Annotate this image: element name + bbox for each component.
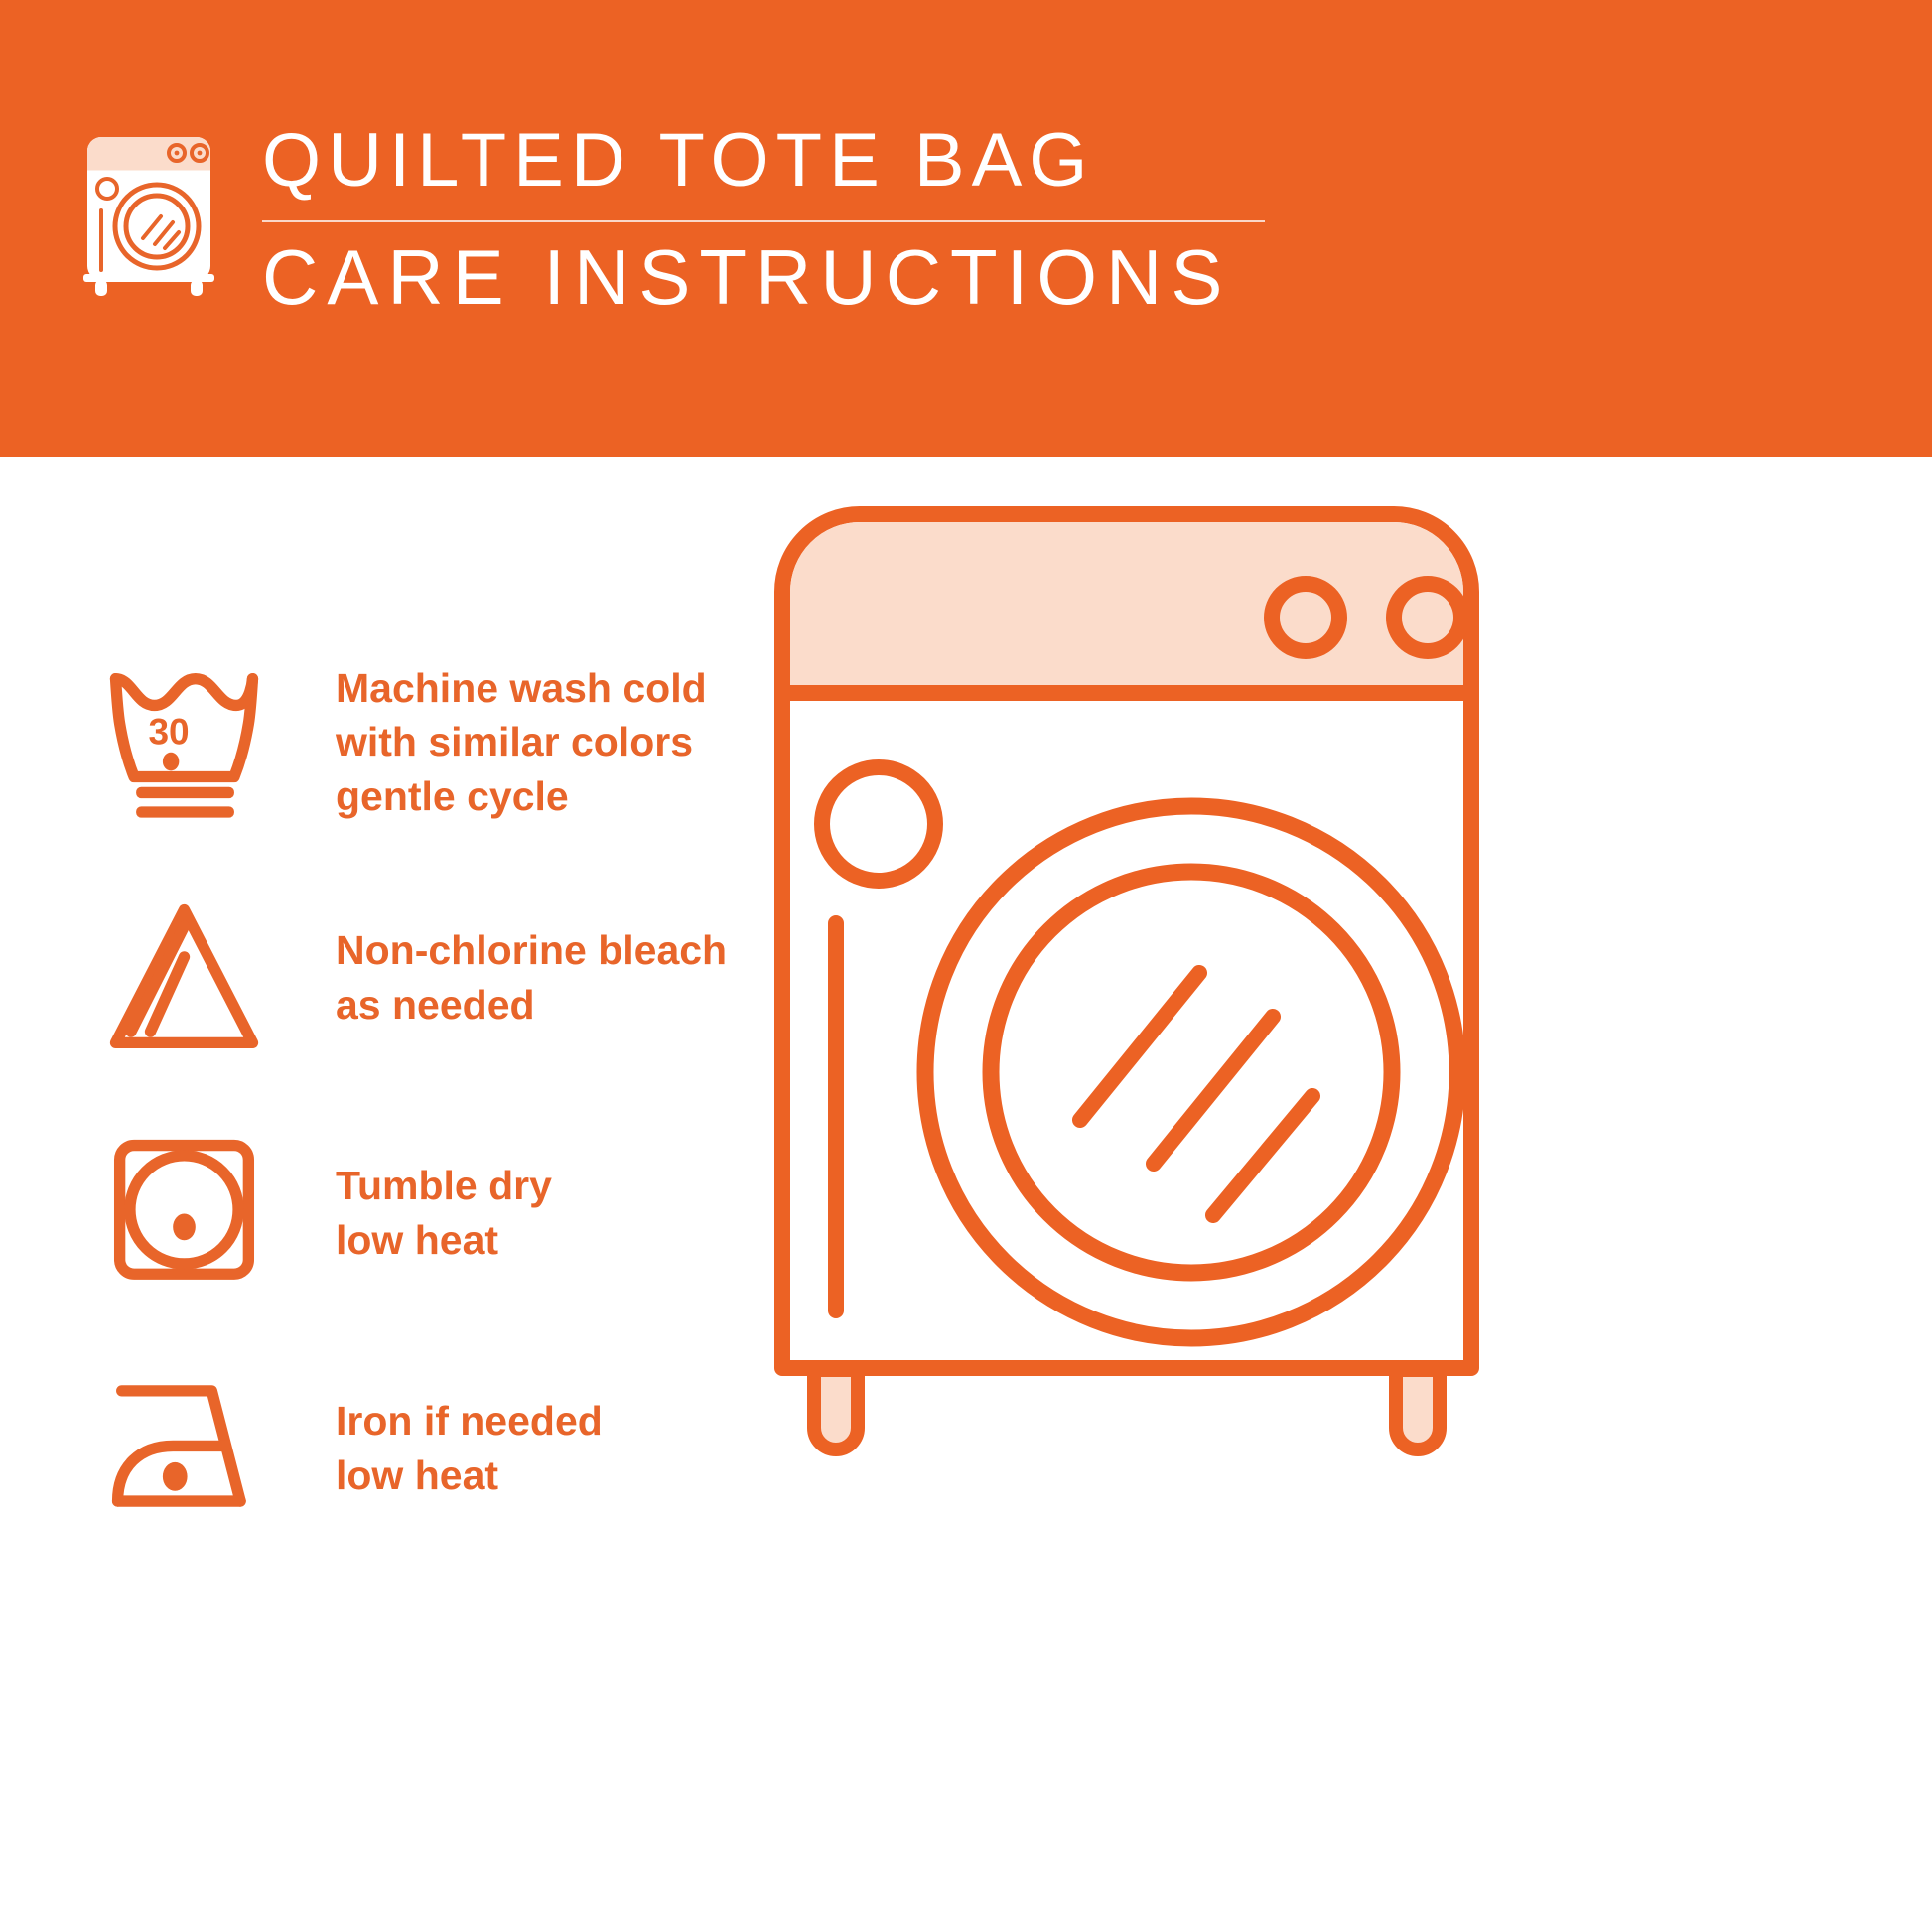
leg-left — [814, 1370, 858, 1449]
control-panel — [790, 522, 1463, 693]
header-content: QUILTED TOTE BAG CARE INSTRUCTIONS — [69, 119, 1265, 316]
washing-machine-illustration — [764, 496, 1559, 1489]
care-item-label: Tumble dry low heat — [278, 1159, 784, 1266]
header-titles: QUILTED TOTE BAG CARE INSTRUCTIONS — [262, 119, 1265, 316]
header-banner: QUILTED TOTE BAG CARE INSTRUCTIONS — [0, 0, 1932, 457]
care-item-machine-wash: 30 Machine wash cold with similar colors… — [89, 655, 784, 829]
title-divider — [262, 220, 1265, 222]
care-item-tumble-dry: Tumble dry low heat — [89, 1126, 784, 1300]
care-item-label: Machine wash cold with similar colors ge… — [278, 661, 784, 822]
page-subtitle: CARE INSTRUCTIONS — [262, 238, 1265, 316]
care-instruction-list: 30 Machine wash cold with similar colors… — [89, 655, 784, 1596]
care-instructions-poster: QUILTED TOTE BAG CARE INSTRUCTIONS 30 — [0, 0, 1932, 1932]
washing-machine-icon — [69, 121, 238, 300]
care-item-bleach: Non-chlorine bleach as needed — [89, 891, 784, 1064]
iron-low-heat-icon — [89, 1361, 278, 1535]
knob-right — [1394, 584, 1461, 651]
page-title: QUILTED TOTE BAG — [262, 123, 1265, 199]
care-item-label: Non-chlorine bleach as needed — [278, 923, 784, 1031]
care-item-label: Iron if needed low heat — [278, 1394, 784, 1501]
tumble-dry-low-heat-icon — [89, 1126, 278, 1300]
leg-right — [1396, 1370, 1440, 1449]
machine-wash-30-gentle-icon: 30 — [89, 655, 278, 829]
knob-left — [1272, 584, 1339, 651]
care-item-iron: Iron if needed low heat — [89, 1361, 784, 1535]
non-chlorine-bleach-icon — [89, 891, 278, 1064]
wash-temperature-value: 30 — [148, 711, 189, 753]
